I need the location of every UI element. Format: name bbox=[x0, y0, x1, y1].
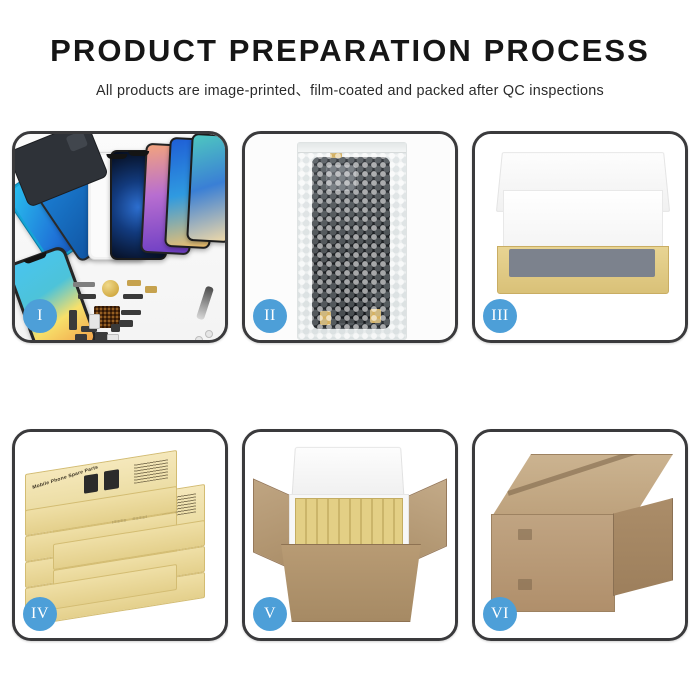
spare-part bbox=[69, 310, 77, 330]
box-window-thumb bbox=[104, 469, 119, 490]
box-spec-lines bbox=[134, 458, 168, 483]
spare-part bbox=[205, 330, 213, 338]
process-step-panel-6: VI bbox=[472, 429, 688, 641]
spare-part bbox=[111, 324, 120, 332]
phone-image-7 bbox=[186, 134, 225, 243]
product-preparation-process-infographic: PRODUCT PREPARATION PROCESS All products… bbox=[0, 0, 700, 700]
spare-part bbox=[145, 286, 157, 293]
step-badge-6: VI bbox=[483, 597, 517, 631]
spare-part bbox=[78, 294, 96, 299]
carton-front-panel bbox=[491, 514, 615, 612]
header: PRODUCT PREPARATION PROCESS All products… bbox=[0, 0, 700, 100]
carton-front-panel bbox=[275, 544, 427, 622]
step-badge-1: I bbox=[23, 299, 57, 333]
yellow-boxes-inside bbox=[295, 498, 403, 546]
bag-seal bbox=[298, 143, 406, 153]
tweezers-tool-icon bbox=[196, 286, 214, 321]
step-badge-3: III bbox=[483, 299, 517, 333]
step-badge-4: IV bbox=[23, 597, 57, 631]
spare-part bbox=[119, 320, 133, 327]
carton-handle-tab bbox=[518, 579, 532, 590]
photo-bubble-wrapped-screen: II bbox=[245, 134, 455, 340]
box-window-thumb bbox=[84, 473, 98, 493]
spare-part bbox=[123, 294, 143, 299]
process-step-panel-4: Mobile Phone Spare Parts Mobile Phone Sp… bbox=[12, 429, 228, 641]
process-step-panel-3: III bbox=[472, 131, 688, 343]
foam-padding bbox=[503, 190, 663, 254]
page-title: PRODUCT PREPARATION PROCESS bbox=[0, 34, 700, 68]
photo-sealed-shipping-carton: VI bbox=[475, 432, 685, 638]
spare-part bbox=[75, 334, 87, 340]
page-subtitle: All products are image-printed、film-coat… bbox=[0, 79, 700, 100]
photo-stacked-yellow-boxes: Mobile Phone Spare Parts Mobile Phone Sp… bbox=[15, 432, 225, 638]
process-step-panel-5: V bbox=[242, 429, 458, 641]
photo-carton-with-foam-and-boxes: V bbox=[245, 432, 455, 638]
step-badge-5: V bbox=[253, 597, 287, 631]
process-step-grid: I II bbox=[12, 131, 688, 643]
step-badge-2: II bbox=[253, 299, 287, 333]
spare-part bbox=[127, 280, 141, 286]
box-stack: Mobile Phone Spare Parts Mobile Phone Sp… bbox=[25, 454, 217, 622]
bubble-texture bbox=[298, 143, 406, 339]
carton-tape-seam bbox=[507, 435, 680, 495]
bubble-wrap-bag bbox=[297, 142, 407, 340]
spare-part bbox=[195, 336, 203, 340]
spare-part bbox=[121, 310, 141, 315]
photo-open-kraft-box-with-foam: III bbox=[475, 134, 685, 340]
process-step-panel-1: I bbox=[12, 131, 228, 343]
bubble-wrapped-contents bbox=[509, 249, 655, 277]
spare-part bbox=[89, 314, 100, 329]
carton-handle-tab bbox=[518, 529, 532, 540]
spare-part bbox=[73, 282, 95, 287]
process-step-panel-2: II bbox=[242, 131, 458, 343]
carton-side-panel bbox=[613, 498, 673, 596]
spare-part bbox=[107, 334, 119, 340]
photo-phone-screens-and-spare-parts: I bbox=[15, 134, 225, 340]
gold-coil-part-icon bbox=[102, 280, 119, 297]
